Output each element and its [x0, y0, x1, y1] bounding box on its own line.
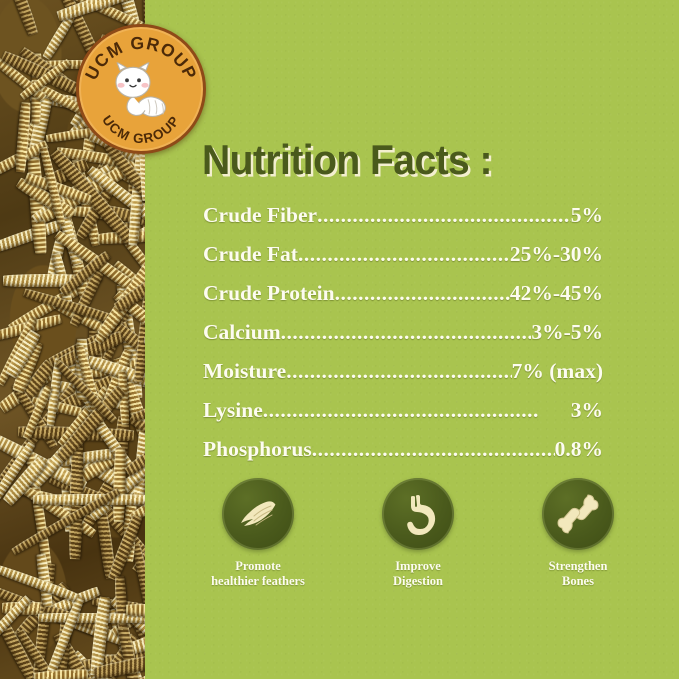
nutrition-facts-list: Crude Fiber.............................…	[203, 203, 603, 476]
nutrition-facts-poster: UCM GROUP UCM GROUP	[0, 0, 679, 679]
benefit-label: Promote healthier feathers	[211, 559, 305, 589]
benefit-label-line2: Digestion	[393, 574, 443, 589]
benefit-label: Improve Digestion	[393, 559, 443, 589]
nutrition-label: Phosphorus	[203, 437, 312, 462]
nutrition-row: Crude Fiber.............................…	[203, 203, 603, 242]
feather-icon-disc	[222, 478, 294, 550]
nutrition-leader-dots: ........................................…	[281, 320, 532, 345]
nutrition-leader-dots: ........................................…	[335, 281, 510, 306]
stomach-icon	[395, 491, 441, 537]
benefit-label-line1: Promote	[211, 559, 305, 574]
benefit-label: Strengthen Bones	[549, 559, 608, 589]
page-title: Nutrition Facts :	[202, 139, 492, 181]
nutrition-value: 0.8%	[555, 437, 603, 462]
ucm-group-logo: UCM GROUP UCM GROUP	[76, 24, 206, 154]
nutrition-value: 3%-5%	[531, 320, 603, 345]
nutrition-value: 5%	[571, 203, 603, 228]
bone-joint-icon-disc	[542, 478, 614, 550]
benefit-label-line1: Improve	[393, 559, 443, 574]
benefit-label-line2: Bones	[549, 574, 608, 589]
nutrition-value: 25%-30%	[510, 242, 603, 267]
nutrition-label: Crude Protein	[203, 281, 335, 306]
mealworm	[113, 448, 126, 523]
nutrition-value: 7% (max)	[512, 359, 603, 384]
nutrition-row: Calcium.................................…	[203, 320, 603, 359]
nutrition-leader-dots: ........................................…	[263, 398, 571, 423]
stomach-icon-disc	[382, 478, 454, 550]
bone-joint-icon	[555, 491, 601, 537]
feather-icon	[235, 491, 281, 537]
nutrition-label: Crude Fiber	[203, 203, 317, 228]
benefit-improve-digestion: Improve Digestion	[343, 478, 493, 589]
benefit-label-line2: healthier feathers	[211, 574, 305, 589]
nutrition-label: Crude Fat	[203, 242, 298, 267]
nutrition-row: Phosphorus..............................…	[203, 437, 603, 476]
nutrition-label: Lysine	[203, 398, 263, 423]
benefits-row: Promote healthier feathers Improve Diges…	[183, 478, 653, 589]
worm-mascot-icon	[103, 62, 179, 120]
benefit-strengthen-bones: Strengthen Bones	[503, 478, 653, 589]
nutrition-row: Crude Fat...............................…	[203, 242, 603, 281]
nutrition-leader-dots: ........................................…	[312, 437, 555, 462]
nutrition-value: 42%-45%	[510, 281, 603, 306]
nutrition-label: Calcium	[203, 320, 281, 345]
nutrition-value: 3%	[571, 398, 603, 423]
nutrition-row: Lysine..................................…	[203, 398, 603, 437]
nutrition-leader-dots: ........................................…	[298, 242, 510, 267]
nutrition-label: Moisture	[203, 359, 286, 384]
nutrition-row: Moisture................................…	[203, 359, 603, 398]
nutrition-leader-dots: ........................................…	[286, 359, 511, 384]
benefit-promote-healthier-feathers: Promote healthier feathers	[183, 478, 333, 589]
nutrition-row: Crude Protein...........................…	[203, 281, 603, 320]
nutrition-leader-dots: ........................................…	[317, 203, 571, 228]
benefit-label-line1: Strengthen	[549, 559, 608, 574]
